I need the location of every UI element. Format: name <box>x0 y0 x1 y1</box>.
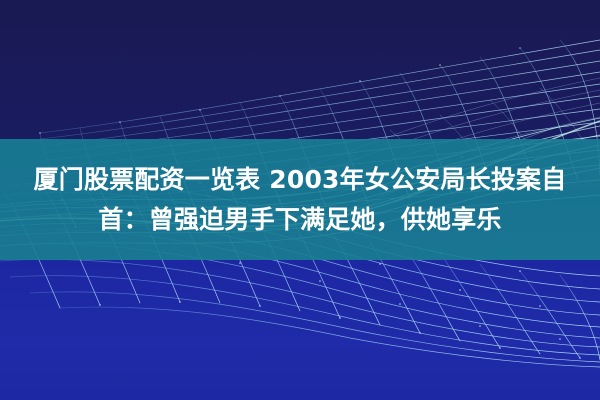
banner-title-block: 厦门股票配资一览表 2003年女公安局长投案自 首：曾强迫男手下满足她，供她享乐 <box>0 139 600 260</box>
banner-image: 厦门股票配资一览表 2003年女公安局长投案自 首：曾强迫男手下满足她，供她享乐 <box>0 0 600 400</box>
banner-title-line-1: 厦门股票配资一览表 2003年女公安局长投案自 <box>34 160 567 200</box>
banner-title-line-2: 首：曾强迫男手下满足她，供她享乐 <box>98 200 501 240</box>
